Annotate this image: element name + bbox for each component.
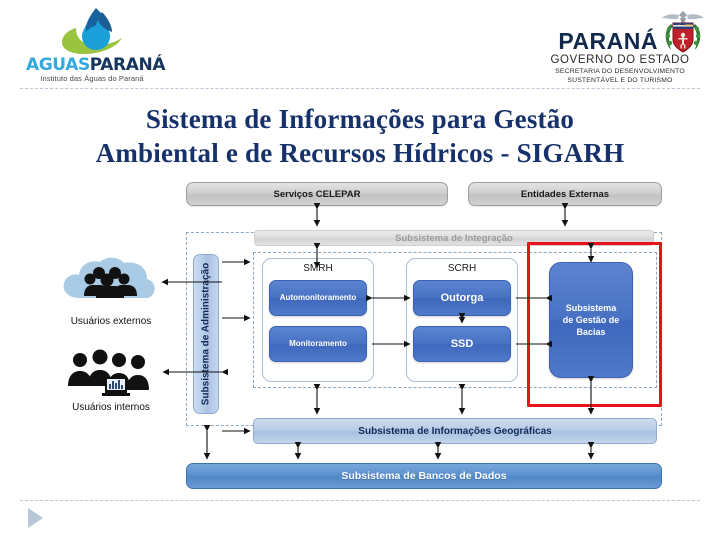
module-ssd[interactable]: SSD <box>413 326 511 362</box>
module-ssd-label: SSD <box>451 338 474 350</box>
water-drop-leaf-logo-icon <box>56 8 130 56</box>
header-divider <box>20 88 700 89</box>
parana-word: PARANÁ <box>90 55 165 75</box>
top-box-servicos-celepar-label: Serviços CELEPAR <box>274 189 361 200</box>
page-title-line2: Ambiental e de Recursos Hídricos - SIGAR… <box>10 136 710 170</box>
parana-department: SECRETARIA DO DESENVOLVIMENTO SUSTENTÁVE… <box>540 68 700 85</box>
parana-government-logo: PARANÁ GOVERNO DO ESTADO SECRETARIA DO D… <box>540 8 700 86</box>
parana-title: PARANÁ <box>540 30 658 53</box>
gis-subsystem-bar[interactable]: Subsistema de Informações Geográficas <box>253 418 657 444</box>
parana-department-line1: SECRETARIA DO DESENVOLVIMENTO <box>540 68 700 77</box>
users-computer-icon <box>62 348 162 398</box>
cloud-users-icon <box>58 254 164 312</box>
admin-subsystem-label: Subsistema de Administração <box>201 263 212 405</box>
module-automonitoramento-label: Automonitoramento <box>280 292 356 304</box>
module-monitoramento-label: Monitoramento <box>289 338 347 350</box>
smrh-group-box: SMRH <box>262 258 374 382</box>
page-title: Sistema de Informações para Gestão Ambie… <box>10 102 710 170</box>
external-users-caption: Usuários externos <box>46 316 176 327</box>
play-triangle-icon[interactable] <box>28 508 43 528</box>
top-box-entidades-externas-label: Entidades Externas <box>521 189 609 200</box>
top-box-entidades-externas[interactable]: Entidades Externas <box>468 182 662 206</box>
aguas-word: AGUAS <box>26 55 90 75</box>
integration-subsystem-label: Subsistema de Integração <box>395 233 513 244</box>
internal-users-caption: Usuários internos <box>46 402 176 413</box>
aguas-tagline: Instituto das Águas do Paraná <box>26 74 158 83</box>
smrh-group-title: SMRH <box>263 263 373 274</box>
module-automonitoramento[interactable]: Automonitoramento <box>269 280 367 316</box>
sigarh-architecture-diagram: Serviços CELEPAR Entidades Externas Subs… <box>0 176 720 506</box>
parana-coat-of-arms-icon <box>660 8 706 56</box>
scrh-group-box: SCRH <box>406 258 518 382</box>
module-outorga-label: Outorga <box>441 292 484 304</box>
parana-department-line2: SUSTENTÁVEL E DO TURISMO <box>540 77 700 86</box>
admin-subsystem-box[interactable]: Subsistema de Administração <box>193 254 219 414</box>
module-outorga[interactable]: Outorga <box>413 280 511 316</box>
aguas-parana-logo: AGUASPARANÁ Instituto das Águas do Paran… <box>26 6 158 88</box>
aguas-parana-wordmark: AGUASPARANÁ <box>26 56 158 74</box>
highlight-frame <box>527 242 662 407</box>
database-subsystem-label: Subsistema de Bancos de Dados <box>341 470 506 482</box>
gis-subsystem-label: Subsistema de Informações Geográficas <box>358 426 551 437</box>
page-title-line1: Sistema de Informações para Gestão <box>10 102 710 136</box>
top-box-servicos-celepar[interactable]: Serviços CELEPAR <box>186 182 448 206</box>
module-monitoramento[interactable]: Monitoramento <box>269 326 367 362</box>
slide-canvas: AGUASPARANÁ Instituto das Águas do Paran… <box>0 0 720 540</box>
footer-divider <box>20 500 700 501</box>
scrh-group-title: SCRH <box>407 263 517 274</box>
database-subsystem-bar[interactable]: Subsistema de Bancos de Dados <box>186 463 662 489</box>
